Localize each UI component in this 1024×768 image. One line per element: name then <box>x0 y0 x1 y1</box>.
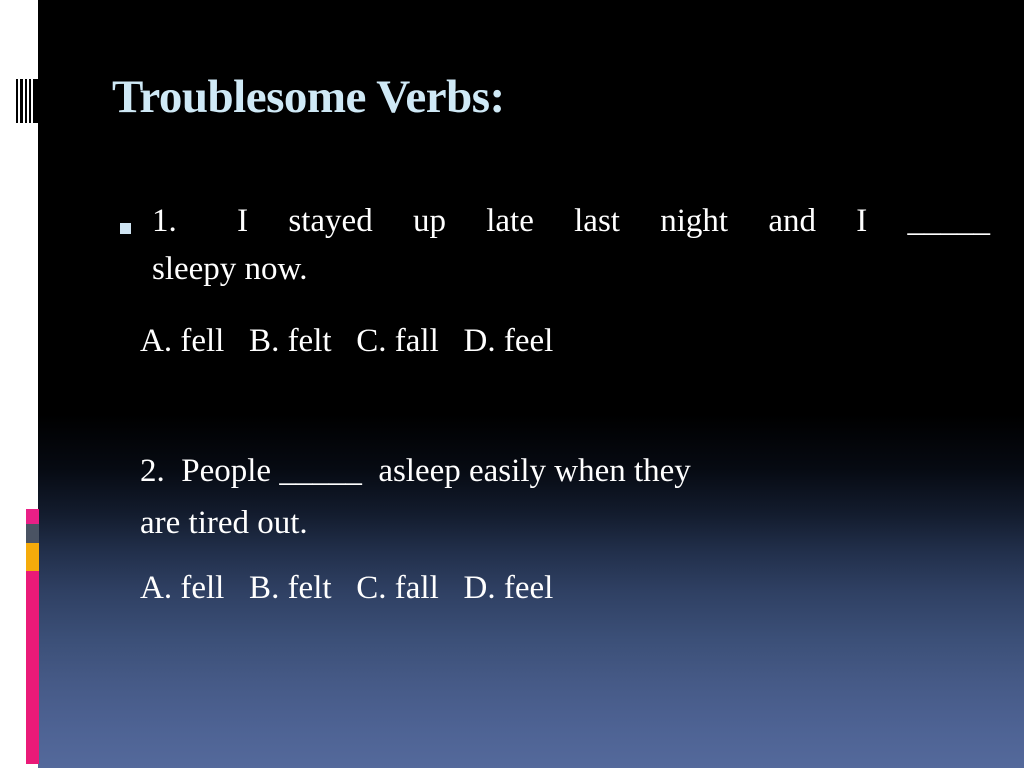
question-1-answer-options: A. fell B. felt C. fall D. feel <box>140 323 553 360</box>
color-segment-strip-decoration <box>26 509 39 764</box>
presentation-slide: Troublesome Verbs: 1. I stayed up late l… <box>0 0 1024 768</box>
barcode-bar <box>20 79 23 123</box>
color-segment-magenta-bar <box>26 571 39 764</box>
question-2-line-1: 2. People _____ asleep easily when they <box>140 453 691 490</box>
question-1-line-2: sleepy now. <box>152 253 308 286</box>
barcode-bar <box>29 79 31 123</box>
question-2-answer-options: A. fell B. felt C. fall D. feel <box>140 570 553 607</box>
square-bullet-icon <box>120 223 131 234</box>
barcode-bar <box>16 79 18 123</box>
question-1-line-1: 1. I stayed up late last night and I ___… <box>152 205 990 238</box>
color-segment-slate <box>26 524 39 543</box>
color-segment-amber <box>26 543 39 571</box>
question-2-line-2: are tired out. <box>140 505 308 542</box>
barcode-bar <box>33 79 40 123</box>
barcode-bar <box>25 79 27 123</box>
color-segment-magenta-top <box>26 509 39 524</box>
barcode-stripes-decoration <box>16 79 40 123</box>
slide-title: Troublesome Verbs: <box>112 70 505 124</box>
